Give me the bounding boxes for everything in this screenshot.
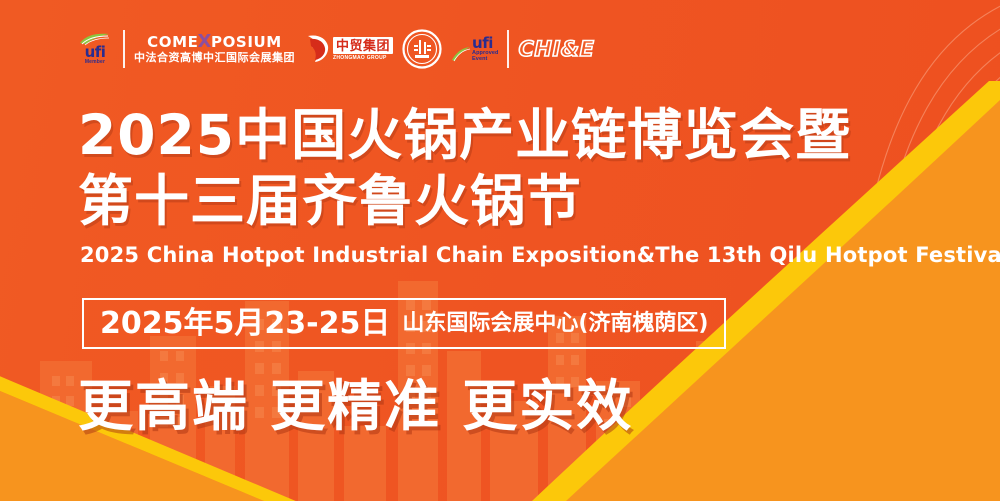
title-line-1: 2025中国火锅产业链博览会暨	[78, 102, 851, 168]
comexposium-logo: COME X POSIUM 中法合资高博中汇国际会展集团	[134, 34, 295, 65]
zhongmao-chinese-name: 中贸集团	[333, 37, 393, 54]
logo-divider	[507, 30, 509, 68]
comexposium-x-glyph: X	[198, 34, 212, 50]
ufi-wordmark: ufi	[472, 36, 498, 50]
logo-divider	[123, 30, 125, 68]
ufi-member-logo: ufi Member	[76, 33, 114, 66]
event-slogan: 更高端 更精准 更实效	[78, 373, 633, 439]
partner-logo-bar: ufi Member COME X POSIUM 中法合资高博中汇国际会展集团 …	[76, 26, 594, 72]
hotpot-expo-banner: ufi Member COME X POSIUM 中法合资高博中汇国际会展集团 …	[0, 0, 1000, 501]
comexposium-wordmark: COME X POSIUM	[147, 34, 282, 50]
event-title: 2025中国火锅产业链博览会暨 第十三届齐鲁火锅节	[78, 102, 851, 234]
ufi-wordmark: ufi	[85, 46, 106, 59]
event-date: 2025年5月23-25日	[100, 307, 390, 341]
zhongmao-english-name: ZHONGMAO GROUP	[333, 55, 387, 62]
english-subtitle: 2025 China Hotpot Industrial Chain Expos…	[80, 243, 1000, 267]
ufi-event-label: Event	[472, 56, 498, 63]
ufi-approved-event-logo: ufi Approved Event	[451, 36, 498, 63]
comexposium-part2: POSIUM	[211, 34, 282, 50]
title-line-2: 第十三届齐鲁火锅节	[78, 168, 851, 234]
chie-logo: CHI&E	[518, 36, 594, 62]
date-venue-box: 2025年5月23-25日 山东国际会展中心(济南槐荫区)	[82, 298, 726, 349]
ufi-member-label: Member	[85, 59, 105, 66]
comexposium-chinese-name: 中法合资高博中汇国际会展集团	[134, 52, 295, 65]
ufi-wing-icon	[451, 47, 471, 63]
event-venue: 山东国际会展中心(济南槐荫区)	[402, 307, 708, 341]
circular-seal-icon	[402, 29, 442, 69]
zhongmao-group-logo: 中贸集团 ZHONGMAO GROUP	[304, 34, 393, 64]
zhongmao-mark-icon	[304, 34, 330, 64]
comexposium-part1: COME	[147, 34, 198, 50]
